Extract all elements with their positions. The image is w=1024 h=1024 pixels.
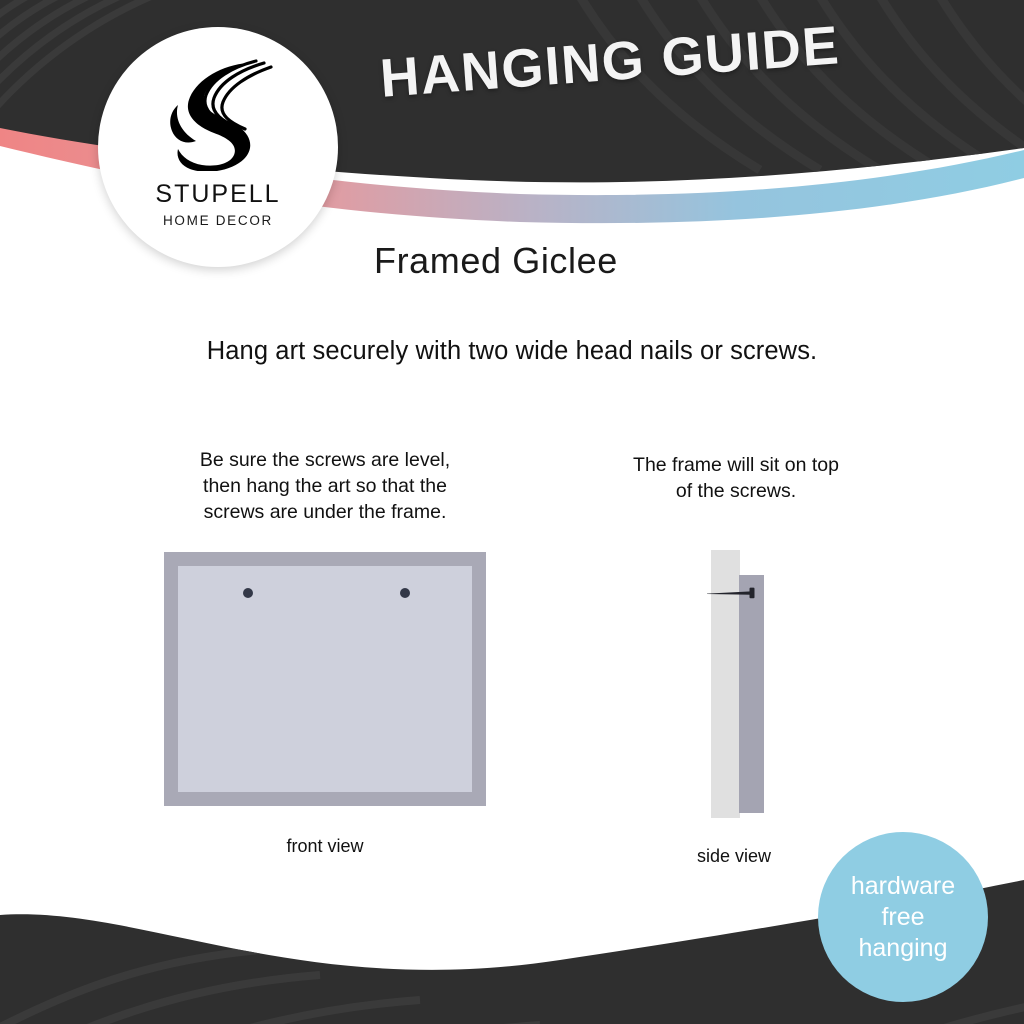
side-view-caption: The frame will sit on top of the screws. — [592, 452, 880, 504]
frame-art-panel — [178, 566, 472, 792]
front-view-caption: Be sure the screws are level, then hang … — [160, 447, 490, 525]
front-view-label: front view — [165, 836, 485, 857]
screw-dot-left — [243, 588, 253, 598]
side-view-diagram — [700, 540, 800, 830]
hanging-guide-page: STUPELL HOME DECOR HANGING GUIDE Framed … — [0, 0, 1024, 1024]
side-view-label: side view — [640, 846, 828, 867]
page-title: HANGING GUIDE — [378, 14, 842, 110]
caption-line: The frame will sit on top — [592, 452, 880, 478]
badge-line: hanging — [859, 933, 948, 964]
badge-line: free — [881, 902, 924, 933]
caption-line: then hang the art so that the — [160, 473, 490, 499]
caption-line: of the screws. — [592, 478, 880, 504]
logo-wordmark: STUPELL — [155, 180, 280, 209]
hardware-free-badge: hardware free hanging — [818, 832, 988, 1002]
product-title: Framed Giclee — [374, 240, 618, 282]
logo-tagline: HOME DECOR — [163, 213, 273, 228]
badge-line: hardware — [851, 871, 955, 902]
front-view-frame-diagram — [164, 552, 486, 806]
brand-logo-badge: STUPELL HOME DECOR — [98, 27, 338, 267]
stupell-swoosh-icon — [154, 53, 282, 171]
screw-dot-right — [400, 588, 410, 598]
caption-line: screws are under the frame. — [160, 499, 490, 525]
frame-strip — [739, 575, 764, 813]
main-instruction: Hang art securely with two wide head nai… — [0, 337, 1024, 366]
caption-line: Be sure the screws are level, — [160, 447, 490, 473]
nail-side-icon — [705, 586, 765, 600]
